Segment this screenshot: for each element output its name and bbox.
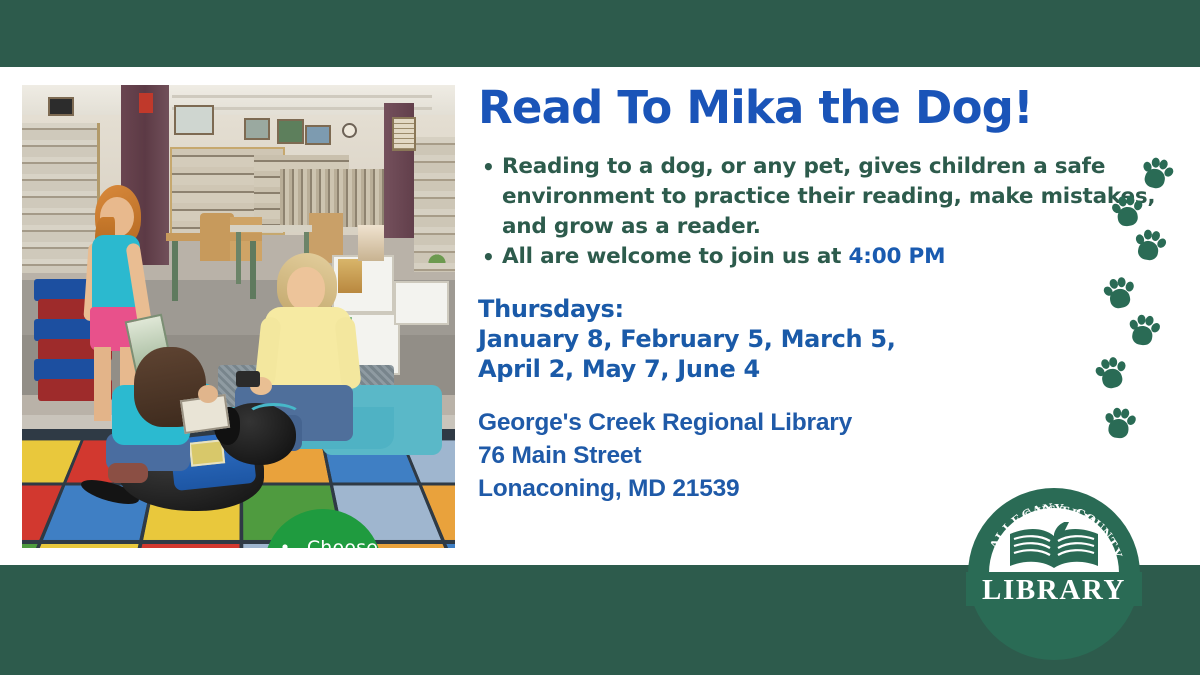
kneeling-child-shoe [108,463,148,483]
venue-street: 76 Main Street [478,439,1178,472]
library-photo: Choose Civility ALLEGANY COUNTY, MD [22,85,455,548]
dog-leash [246,403,302,429]
kneeling-child-hand [198,385,218,403]
paw-print-icon [1126,313,1160,349]
table [166,233,262,241]
bullet-text-2: All are welcome to join us at [502,244,849,269]
display-cube [394,281,449,325]
list-item: Reading to a dog, or any pet, gives chil… [478,152,1178,242]
table-leg [172,241,178,301]
table [230,225,312,232]
people-star-icon [268,541,302,548]
allegany-county-library-system-logo: LIBRARY ALLEGANY COUNTY SYSTEM [968,488,1140,660]
event-time: 4:00 PM [849,244,946,269]
wall-art [48,97,74,116]
table-leg [236,232,241,284]
event-dates: Thursdays: January 8, February 5, March … [478,294,1178,384]
standing-girl-leg [94,347,111,421]
display-book [358,225,384,261]
phone [236,371,260,387]
list-item: All are welcome to join us at 4:00 PM [478,242,1178,272]
wall-art [277,119,304,144]
benefits-list: Reading to a dog, or any pet, gives chil… [478,152,1178,272]
wall-art [244,118,270,140]
paw-print-icon [1110,194,1144,230]
bullet-text-1: Reading to a dog, or any pet, gives chil… [502,154,1155,239]
civility-line1: Choose [307,539,378,548]
venue-name: George's Creek Regional Library [478,406,1178,439]
table-leg [250,241,256,299]
flyer-card: Choose Civility ALLEGANY COUNTY, MD Read… [0,67,1200,565]
logo-wordmark: LIBRARY [968,574,1140,607]
wall-calendar [392,117,416,151]
plant [426,245,448,263]
seated-woman-face [287,267,325,311]
paw-print-icon [1102,407,1135,442]
text-column: Read To Mika the Dog! Reading to a dog, … [478,85,1178,505]
ceiling-line [172,95,432,98]
wall-clock [342,123,357,138]
display-book [338,259,362,293]
page-title: Read To Mika the Dog! [478,85,1178,130]
dates-line-1: January 8, February 5, March 5, [478,324,1178,354]
exit-sign [139,93,153,113]
civility-row: Choose Civility [268,539,378,548]
civility-wordmark: Choose Civility [307,539,378,548]
paw-print-icon [1101,275,1137,313]
day-label: Thursdays: [478,294,1178,324]
wall-art [305,125,331,145]
dates-line-2: April 2, May 7, June 4 [478,354,1178,384]
wall-art [174,105,214,135]
paw-print-icon [1131,228,1166,265]
